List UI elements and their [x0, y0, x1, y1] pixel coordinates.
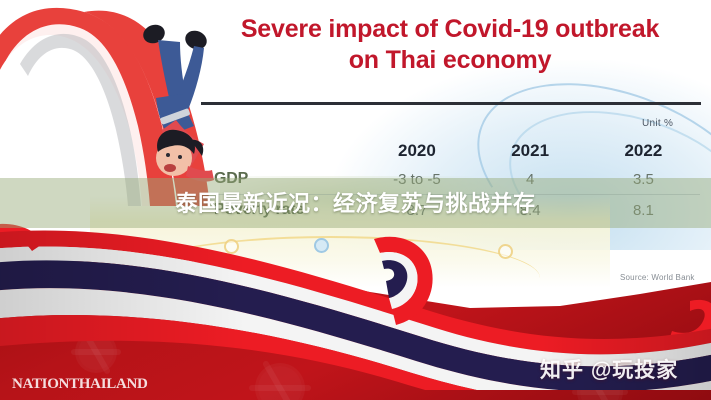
overlay-title: 泰国最新近况：经济复苏与挑战并存	[0, 186, 711, 218]
title-divider	[201, 102, 701, 105]
source-attribution: Source: World Bank	[620, 273, 695, 282]
column-header-2020: 2020	[360, 138, 473, 164]
column-header-2022: 2022	[587, 138, 700, 164]
table-corner-cell	[200, 138, 360, 164]
page-title: Severe impact of Covid-19 outbreak on Th…	[200, 14, 700, 75]
publisher-logo: NATIONTHAILAND	[12, 376, 148, 393]
headline-line-1: Severe impact of Covid-19 outbreak	[241, 15, 659, 43]
watermark: 知乎 @玩投家	[540, 354, 678, 384]
table-header-row: 2020 2021 2022	[200, 138, 700, 164]
headline-line-2: on Thai economy	[200, 45, 700, 76]
unit-label: Unit %	[642, 118, 673, 129]
column-header-2021: 2021	[474, 138, 587, 164]
infographic-canvas: Severe impact of Covid-19 outbreak on Th…	[0, 0, 711, 400]
